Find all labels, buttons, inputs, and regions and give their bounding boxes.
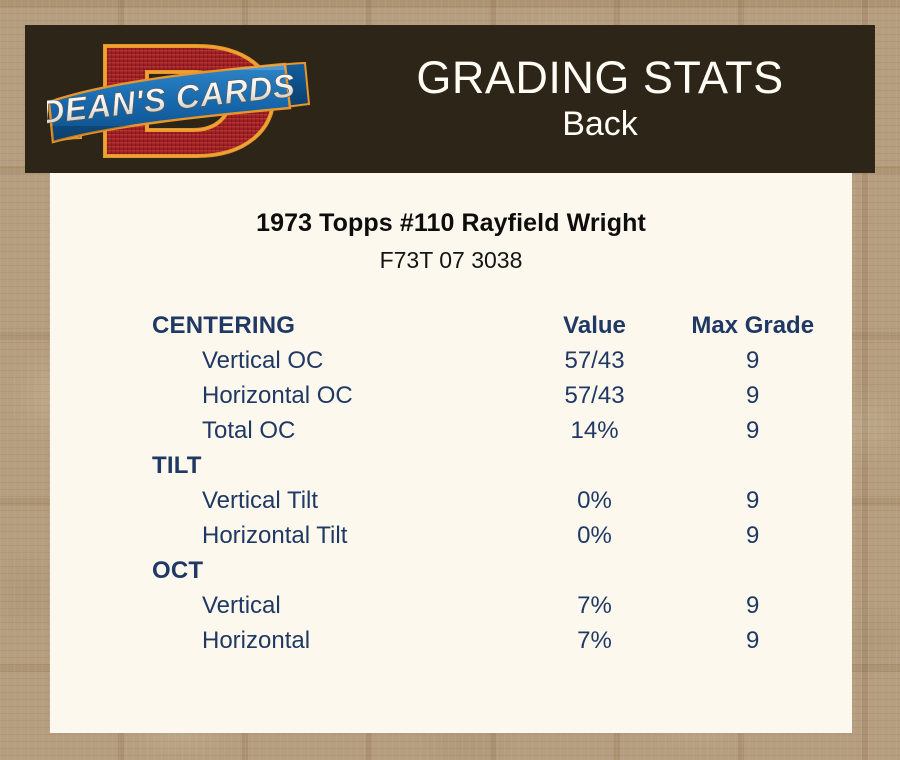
card-title: 1973 Topps #110 Rayfield Wright [50, 209, 852, 238]
stat-value: 7% [516, 623, 674, 658]
section-header-row: TILT [152, 448, 832, 483]
table-row: Vertical OC 57/43 9 [152, 343, 832, 378]
table-row: Horizontal OC 57/43 9 [152, 378, 832, 413]
card-serial-number: F73T 07 3038 [50, 247, 852, 274]
stat-label: Vertical Tilt [152, 483, 516, 518]
spacer-cell [516, 448, 674, 483]
stat-value: 0% [516, 518, 674, 553]
stat-label: Total OC [152, 413, 516, 448]
stat-max-grade: 9 [673, 518, 832, 553]
table-row: Horizontal 7% 9 [152, 623, 832, 658]
column-header-max-grade: Max Grade [673, 308, 832, 343]
spacer-cell [673, 553, 832, 588]
grading-stats-page: DEAN'S CARDS GRADING STATS Back 1973 Top… [0, 0, 900, 760]
section-header-centering: CENTERING [152, 308, 516, 343]
section-header-tilt: TILT [152, 448, 516, 483]
stat-max-grade: 9 [673, 413, 832, 448]
stat-label: Vertical [152, 588, 516, 623]
spacer-cell [673, 448, 832, 483]
stat-max-grade: 9 [673, 623, 832, 658]
stat-label: Horizontal Tilt [152, 518, 516, 553]
deans-cards-logo[interactable]: DEAN'S CARDS [47, 30, 312, 170]
stat-max-grade: 9 [673, 378, 832, 413]
section-header-row: OCT [152, 553, 832, 588]
table-row: Horizontal Tilt 0% 9 [152, 518, 832, 553]
grading-stats-table: CENTERING Value Max Grade Vertical OC 57… [152, 308, 832, 658]
table-header-row: CENTERING Value Max Grade [152, 308, 832, 343]
stat-label: Horizontal OC [152, 378, 516, 413]
stat-label: Horizontal [152, 623, 516, 658]
column-header-value: Value [516, 308, 674, 343]
stat-max-grade: 9 [673, 343, 832, 378]
header-title-group: GRADING STATS Back [325, 25, 875, 173]
table-row: Vertical Tilt 0% 9 [152, 483, 832, 518]
stat-value: 57/43 [516, 378, 674, 413]
section-header-oct: OCT [152, 553, 516, 588]
stat-value: 14% [516, 413, 674, 448]
stat-max-grade: 9 [673, 483, 832, 518]
stat-value: 57/43 [516, 343, 674, 378]
page-title: GRADING STATS [416, 54, 783, 101]
stat-value: 7% [516, 588, 674, 623]
table-row: Total OC 14% 9 [152, 413, 832, 448]
header-bar: DEAN'S CARDS GRADING STATS Back [25, 25, 875, 173]
spacer-cell [516, 553, 674, 588]
page-subtitle: Back [562, 105, 638, 144]
stat-max-grade: 9 [673, 588, 832, 623]
stat-value: 0% [516, 483, 674, 518]
stat-label: Vertical OC [152, 343, 516, 378]
table-row: Vertical 7% 9 [152, 588, 832, 623]
content-panel: 1973 Topps #110 Rayfield Wright F73T 07 … [50, 173, 852, 733]
